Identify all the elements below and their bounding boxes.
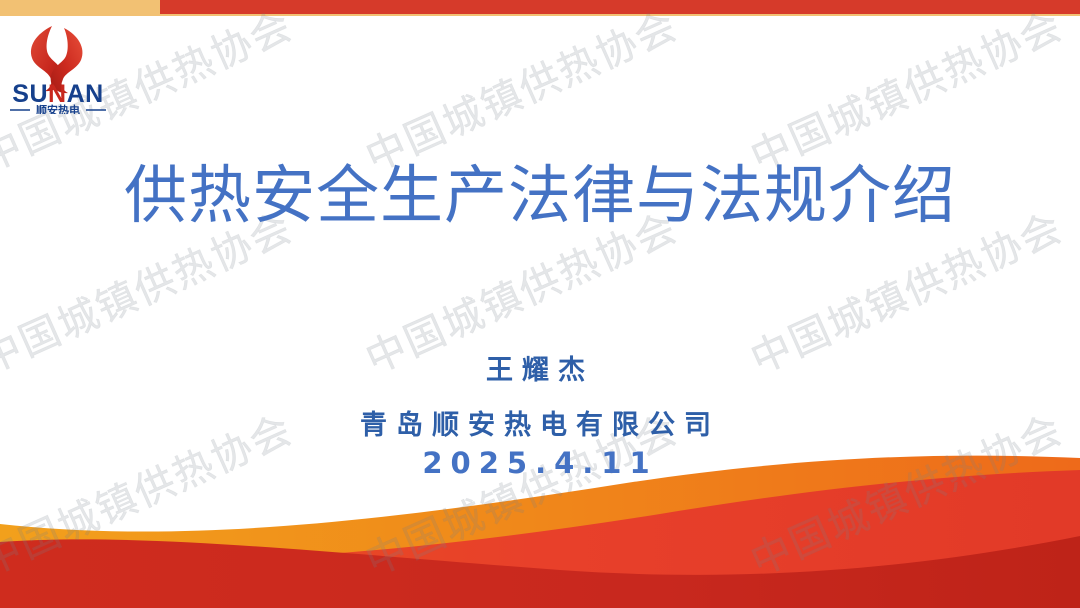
top-bar-red: [160, 0, 1080, 14]
watermark-text: 中国城镇供热协会: [740, 0, 1071, 183]
svg-text:顺安热电: 顺安热电: [36, 103, 80, 114]
presenter-block: 王耀杰 青岛顺安热电有限公司 2025.4.11: [0, 348, 1080, 480]
company-logo: SUNAN 顺安热电: [6, 22, 110, 114]
logo-artwork: SUNAN 顺安热电: [6, 22, 110, 114]
watermark-text: 中国城镇供热协会: [355, 0, 686, 183]
slide-canvas: SUNAN 顺安热电 供热安全生产法律与法规介绍 王耀杰 青岛顺安热电有限公司 …: [0, 0, 1080, 608]
presentation-date: 2025.4.11: [0, 446, 1080, 480]
presenter-company: 青岛顺安热电有限公司: [0, 403, 1080, 442]
slide-title: 供热安全生产法律与法规介绍: [0, 160, 1080, 232]
presenter-name: 王耀杰: [0, 348, 1080, 387]
